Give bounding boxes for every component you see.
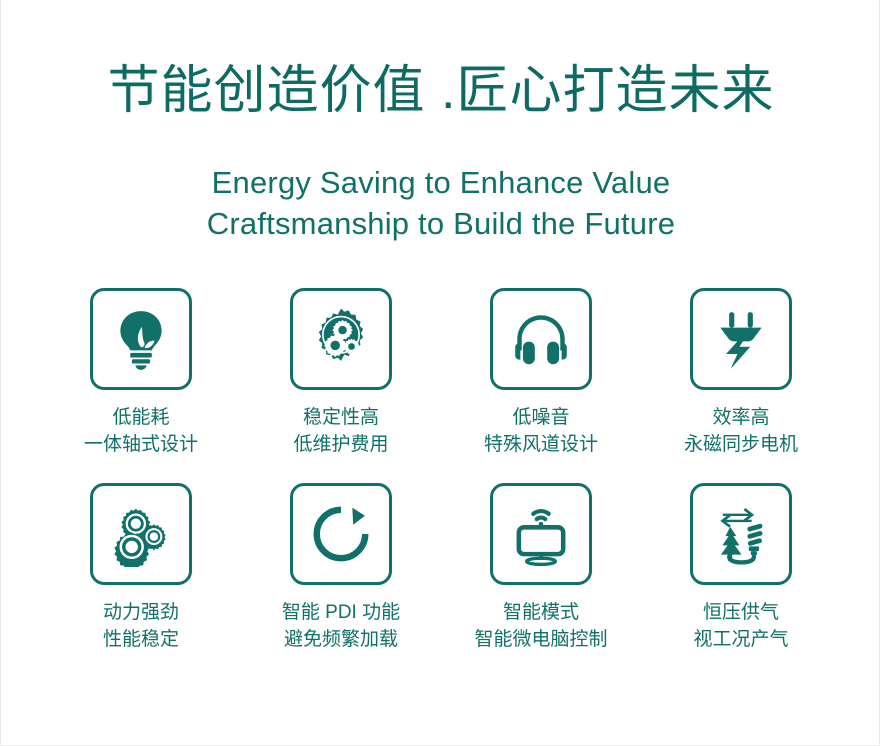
feature-caption-line2: 永磁同步电机 [684, 431, 798, 458]
feature-caption-line1: 恒压供气 [693, 599, 788, 626]
feature-item-low-noise: 低噪音 特殊风道设计 [441, 288, 641, 458]
feature-highlights-poster: · · · · · · · · · · · · · · · · · · · · … [0, 0, 880, 746]
tree-bulb-exchange-icon [708, 501, 774, 567]
feature-icon-box [490, 483, 592, 585]
feature-caption-line2: 智能微电脑控制 [474, 626, 607, 653]
three-gears-icon [108, 501, 174, 567]
feature-caption-line1: 智能 PDI 功能 [282, 599, 400, 626]
feature-caption-line2: 视工况产气 [693, 626, 788, 653]
feature-icon-box [690, 483, 792, 585]
feature-icon-box [90, 483, 192, 585]
feature-caption: 智能模式 智能微电脑控制 [474, 599, 607, 653]
feature-caption-line2: 低维护费用 [293, 431, 388, 458]
feature-caption-line1: 低能耗 [84, 404, 198, 431]
background-watermark: · · · · · · · · · · · · · · · · · · · · … [1, 14, 880, 26]
feature-caption: 效率高 永磁同步电机 [684, 404, 798, 458]
page-subtitle-english: Energy Saving to Enhance Value Craftsman… [1, 162, 880, 244]
refresh-cycle-arrow-icon [308, 501, 374, 567]
feature-item-smart-pdi: 智能 PDI 功能 避免频繁加载 [241, 483, 441, 653]
power-plug-lightning-icon [708, 306, 774, 372]
feature-icon-box [290, 483, 392, 585]
feature-caption: 动力强劲 性能稳定 [103, 599, 179, 653]
feature-icon-box [690, 288, 792, 390]
feature-caption-line1: 智能模式 [474, 599, 607, 626]
feature-item-strong-power: 动力强劲 性能稳定 [41, 483, 241, 653]
eco-lightbulb-icon [108, 306, 174, 372]
feature-grid: 低能耗 一体轴式设计 [41, 288, 841, 653]
feature-caption-line2: 性能稳定 [103, 626, 179, 653]
feature-caption-line2: 特殊风道设计 [484, 431, 598, 458]
feature-icon-box [490, 288, 592, 390]
feature-item-high-stability: 稳定性高 低维护费用 [241, 288, 441, 458]
feature-item-low-energy: 低能耗 一体轴式设计 [41, 288, 241, 458]
feature-caption: 稳定性高 低维护费用 [293, 404, 388, 458]
feature-caption-line2: 避免频繁加载 [282, 626, 400, 653]
headphones-icon [508, 306, 574, 372]
page-title-chinese: 节能创造价值 .匠心打造未来 [1, 62, 880, 122]
feature-item-high-efficiency: 效率高 永磁同步电机 [641, 288, 841, 458]
feature-item-smart-mode: 智能模式 智能微电脑控制 [441, 483, 641, 653]
feature-caption: 低噪音 特殊风道设计 [484, 404, 598, 458]
feature-icon-box [290, 288, 392, 390]
gear-cluster-in-circle-icon [308, 306, 374, 372]
feature-caption: 低能耗 一体轴式设计 [84, 404, 198, 458]
feature-item-constant-pressure: 恒压供气 视工况产气 [641, 483, 841, 653]
feature-caption: 恒压供气 视工况产气 [693, 599, 788, 653]
subtitle-line-1: Energy Saving to Enhance Value [1, 162, 880, 203]
feature-caption-line1: 稳定性高 [293, 404, 388, 431]
feature-caption-line1: 效率高 [684, 404, 798, 431]
feature-caption-line1: 低噪音 [484, 404, 598, 431]
feature-icon-box [90, 288, 192, 390]
feature-caption: 智能 PDI 功能 避免频繁加载 [282, 599, 400, 653]
feature-caption-line2: 一体轴式设计 [84, 431, 198, 458]
subtitle-line-2: Craftsmanship to Build the Future [1, 203, 880, 244]
feature-caption-line1: 动力强劲 [103, 599, 179, 626]
monitor-wifi-icon [508, 501, 574, 567]
